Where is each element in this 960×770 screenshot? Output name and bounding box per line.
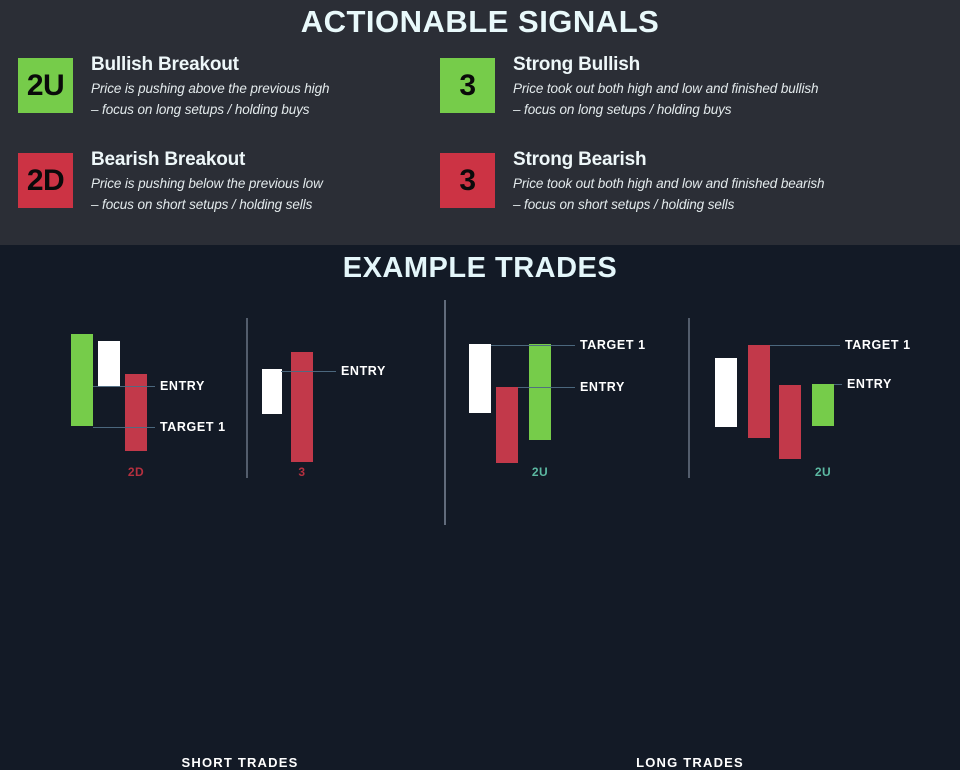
level-line (281, 371, 336, 372)
signal-title: Bearish Breakout (91, 149, 448, 172)
level-label: ENTRY (341, 365, 386, 378)
level-label: ENTRY (160, 380, 205, 393)
candle-red (748, 345, 770, 438)
group-label-short-trades: SHORT TRADES (140, 756, 340, 769)
signal-title: Strong Bullish (513, 54, 950, 77)
signal-body: Bearish Breakout Price is pushing below … (91, 149, 448, 216)
candle-green (529, 344, 551, 440)
signal-description-line1: Price took out both high and low and fin… (513, 174, 950, 195)
signal-description-line2: – focus on long setups / holding buys (513, 100, 950, 121)
signal-badge-3-bullish: 3 (440, 58, 495, 113)
signal-body: Strong Bullish Price took out both high … (513, 54, 950, 121)
level-line (770, 345, 840, 346)
signal-body: Bullish Breakout Price is pushing above … (91, 54, 448, 121)
level-label: TARGET 1 (845, 339, 911, 352)
level-line (834, 384, 842, 385)
signal-badge-3-bearish: 3 (440, 153, 495, 208)
pattern-label-2u: 2U (523, 466, 557, 478)
divider-short-inner (246, 318, 248, 478)
pattern-label-2u: 2U (806, 466, 840, 478)
level-label: ENTRY (580, 381, 625, 394)
candle-red (291, 352, 313, 462)
signal-description-line1: Price took out both high and low and fin… (513, 79, 950, 100)
candle-white (469, 344, 491, 413)
candle-white (98, 341, 120, 387)
signal-description-line1: Price is pushing above the previous high (91, 79, 448, 100)
level-line (518, 387, 575, 388)
signal-title: Strong Bearish (513, 149, 950, 172)
candle-red (779, 385, 801, 459)
group-label-long-trades: LONG TRADES (590, 756, 790, 769)
example-trades-chart-area: ENTRYTARGET 12DENTRY3TARGET 1ENTRY2UTARG… (0, 245, 960, 540)
example-trades-section: EXAMPLE TRADES ENTRYTARGET 12DENTRY3TARG… (0, 245, 960, 540)
candle-green (812, 384, 834, 426)
candle-white (262, 369, 282, 414)
slide-root: ACTIONABLE SIGNALS 2U Bullish Breakout P… (0, 0, 960, 540)
signal-description-line2: – focus on long setups / holding buys (91, 100, 448, 121)
candle-green (71, 334, 93, 426)
level-line (491, 345, 575, 346)
signal-grid: 2U Bullish Breakout Price is pushing abo… (0, 55, 960, 240)
signal-badge-2d: 2D (18, 153, 73, 208)
signal-description-line1: Price is pushing below the previous low (91, 174, 448, 195)
divider-short-long (444, 300, 446, 525)
level-label: TARGET 1 (160, 421, 226, 434)
level-line (93, 386, 155, 387)
actionable-signals-section: ACTIONABLE SIGNALS 2U Bullish Breakout P… (0, 0, 960, 245)
level-label: TARGET 1 (580, 339, 646, 352)
level-label: ENTRY (847, 378, 892, 391)
signal-body: Strong Bearish Price took out both high … (513, 149, 950, 216)
signal-title: Bullish Breakout (91, 54, 448, 77)
level-line (93, 427, 155, 428)
signal-description-line2: – focus on short setups / holding sells (513, 195, 950, 216)
pattern-label-3: 3 (285, 466, 319, 478)
signal-badge-2u: 2U (18, 58, 73, 113)
actionable-signals-title: ACTIONABLE SIGNALS (0, 4, 960, 40)
signal-description-line2: – focus on short setups / holding sells (91, 195, 448, 216)
candle-red (496, 387, 518, 463)
divider-long-inner (688, 318, 690, 478)
candle-white (715, 358, 737, 427)
pattern-label-2d: 2D (119, 466, 153, 478)
